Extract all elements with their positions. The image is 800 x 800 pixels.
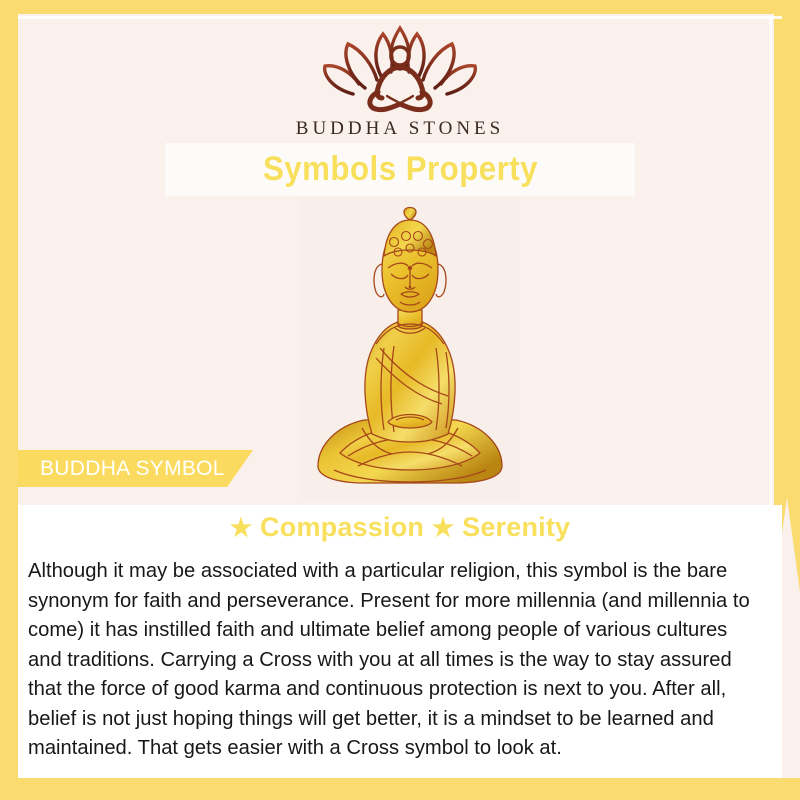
- subtitle-item-one: Compassion: [260, 512, 424, 542]
- star-icon-1: ★: [230, 514, 253, 542]
- section-ribbon-buddha-symbol: BUDDHA SYMBOL: [18, 450, 253, 487]
- ribbon-label: BUDDHA SYMBOL: [18, 457, 225, 481]
- buddha-statue-image: [300, 198, 520, 498]
- frame-inset-line-top: [18, 16, 782, 19]
- title-band: Symbols Property: [165, 143, 635, 196]
- body-paragraph: Although it may be associated with a par…: [28, 556, 757, 763]
- subtitle-item-two: Serenity: [462, 512, 570, 542]
- poster-root: BUDDHA STONES Symbols Property: [0, 0, 800, 800]
- brand-block: BUDDHA STONES: [0, 22, 800, 140]
- page-title: Symbols Property: [262, 150, 537, 189]
- subtitle: ★ Compassion ★ Serenity: [0, 512, 800, 543]
- frame-bottom-band: [0, 778, 800, 800]
- golden-buddha-statue-icon: [300, 198, 520, 498]
- lotus-meditation-icon: [315, 22, 485, 114]
- brand-name: BUDDHA STONES: [0, 118, 800, 140]
- frame-top-band: [0, 0, 800, 14]
- star-icon-2: ★: [432, 514, 455, 542]
